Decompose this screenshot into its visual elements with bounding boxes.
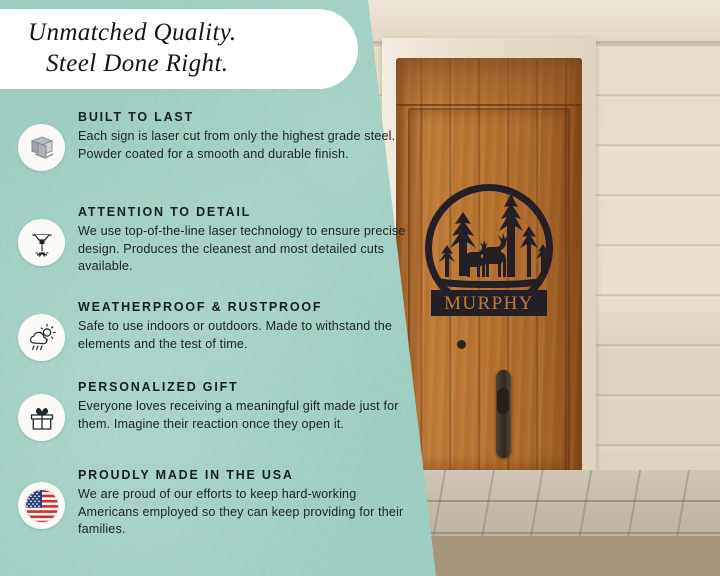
- usa-flag-icon: [18, 482, 65, 529]
- door-handle-plate: [496, 370, 511, 458]
- infographic-root: MURPHY Unmatched Quality. Steel Done Rig…: [0, 0, 720, 576]
- headline-line-2: Steel Done Right.: [28, 49, 342, 80]
- feature-item: BUILT TO LAST Each sign is laser cut fro…: [14, 110, 424, 205]
- gift-box-icon: [18, 394, 65, 441]
- feature-body: Each sign is laser cut from only the hig…: [78, 128, 408, 163]
- door-peephole: [457, 340, 466, 349]
- feature-item: PERSONALIZED GIFT Everyone loves receivi…: [14, 380, 424, 468]
- feature-item: ATTENTION TO DETAIL We use top-of-the-li…: [14, 205, 424, 300]
- feature-item: WEATHERPROOF & RUSTPROOF Safe to use ind…: [14, 300, 424, 380]
- laser-cutter-icon: [18, 219, 65, 266]
- feature-title: PERSONALIZED GIFT: [78, 380, 424, 395]
- feature-body: We use top-of-the-line laser technology …: [78, 223, 408, 276]
- headline-line-1: Unmatched Quality.: [28, 18, 342, 49]
- feature-title: BUILT TO LAST: [78, 110, 424, 125]
- feature-item: PROUDLY MADE IN THE USA We are proud of …: [14, 468, 424, 554]
- sun-cloud-rain-icon: [18, 314, 65, 361]
- feature-body: Safe to use indoors or outdoors. Made to…: [78, 318, 408, 353]
- feature-title: PROUDLY MADE IN THE USA: [78, 468, 424, 483]
- monogram-sign-svg: MURPHY: [415, 180, 563, 330]
- feature-body: We are proud of our efforts to keep hard…: [78, 486, 408, 539]
- feature-list: BUILT TO LAST Each sign is laser cut fro…: [14, 110, 424, 554]
- monogram-sign: MURPHY: [415, 180, 563, 335]
- steel-beam-icon: [18, 124, 65, 171]
- headline-banner: Unmatched Quality. Steel Done Right.: [0, 9, 358, 89]
- feature-body: Everyone loves receiving a meaningful gi…: [78, 398, 408, 433]
- door-top-rail: [396, 58, 582, 106]
- feature-title: ATTENTION TO DETAIL: [78, 205, 424, 220]
- feature-title: WEATHERPROOF & RUSTPROOF: [78, 300, 424, 315]
- sign-name-text: MURPHY: [444, 293, 534, 314]
- door-handle: [497, 388, 509, 414]
